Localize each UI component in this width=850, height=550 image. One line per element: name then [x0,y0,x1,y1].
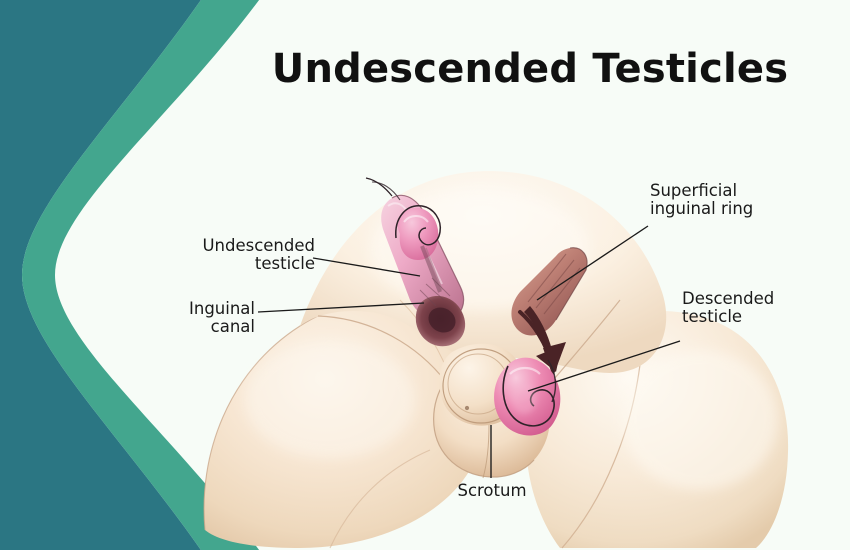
label-superficial-inguinal-ring: Superficial inguinal ring [650,182,840,219]
label-scrotum: Scrotum [432,482,552,500]
label-undescended-testicle: Undescended testicle [120,237,315,274]
label-descended-testicle: Descended testicle [682,290,842,327]
label-inguinal-canal: Inguinal canal [110,300,255,337]
anatomy-illustration [0,0,850,550]
illustration-page: Undescended Testicles [0,0,850,550]
